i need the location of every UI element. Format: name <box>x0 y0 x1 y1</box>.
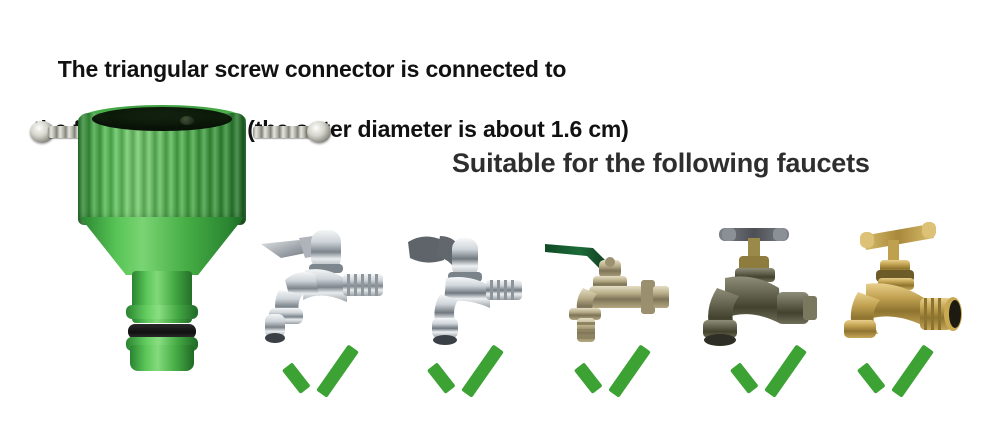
faucet-4-image <box>695 222 845 357</box>
faucet-item-2 <box>400 222 550 422</box>
connector-stem-tip <box>130 345 194 371</box>
promo-image: The triangular screw connector is connec… <box>0 0 1000 432</box>
faucet-item-5 <box>840 222 990 422</box>
subheading: Suitable for the following faucets <box>452 148 870 179</box>
faucet-item-1 <box>255 222 405 422</box>
check-icon <box>295 340 357 392</box>
right-screw-head <box>307 121 331 143</box>
right-screw-icon <box>245 121 340 143</box>
check-icon <box>587 340 649 392</box>
headline-line-1: The triangular screw connector is connec… <box>58 56 566 82</box>
faucet-3-image <box>545 222 695 357</box>
check-icon <box>440 340 502 392</box>
connector-inner-notch <box>180 116 194 125</box>
product-connector-image <box>30 105 280 380</box>
connector-tapered-shoulder <box>80 217 244 275</box>
faucet-5-image <box>840 222 990 357</box>
connector-stem-collar-upper <box>126 305 198 319</box>
check-icon <box>870 340 932 392</box>
faucet-2-image <box>400 222 550 357</box>
faucet-item-3 <box>545 222 695 422</box>
faucet-1-image <box>255 222 405 357</box>
faucet-item-4 <box>695 222 845 422</box>
connector-socket-cavity <box>92 107 232 131</box>
compatible-faucets-row <box>255 222 1000 422</box>
check-icon <box>743 340 805 392</box>
